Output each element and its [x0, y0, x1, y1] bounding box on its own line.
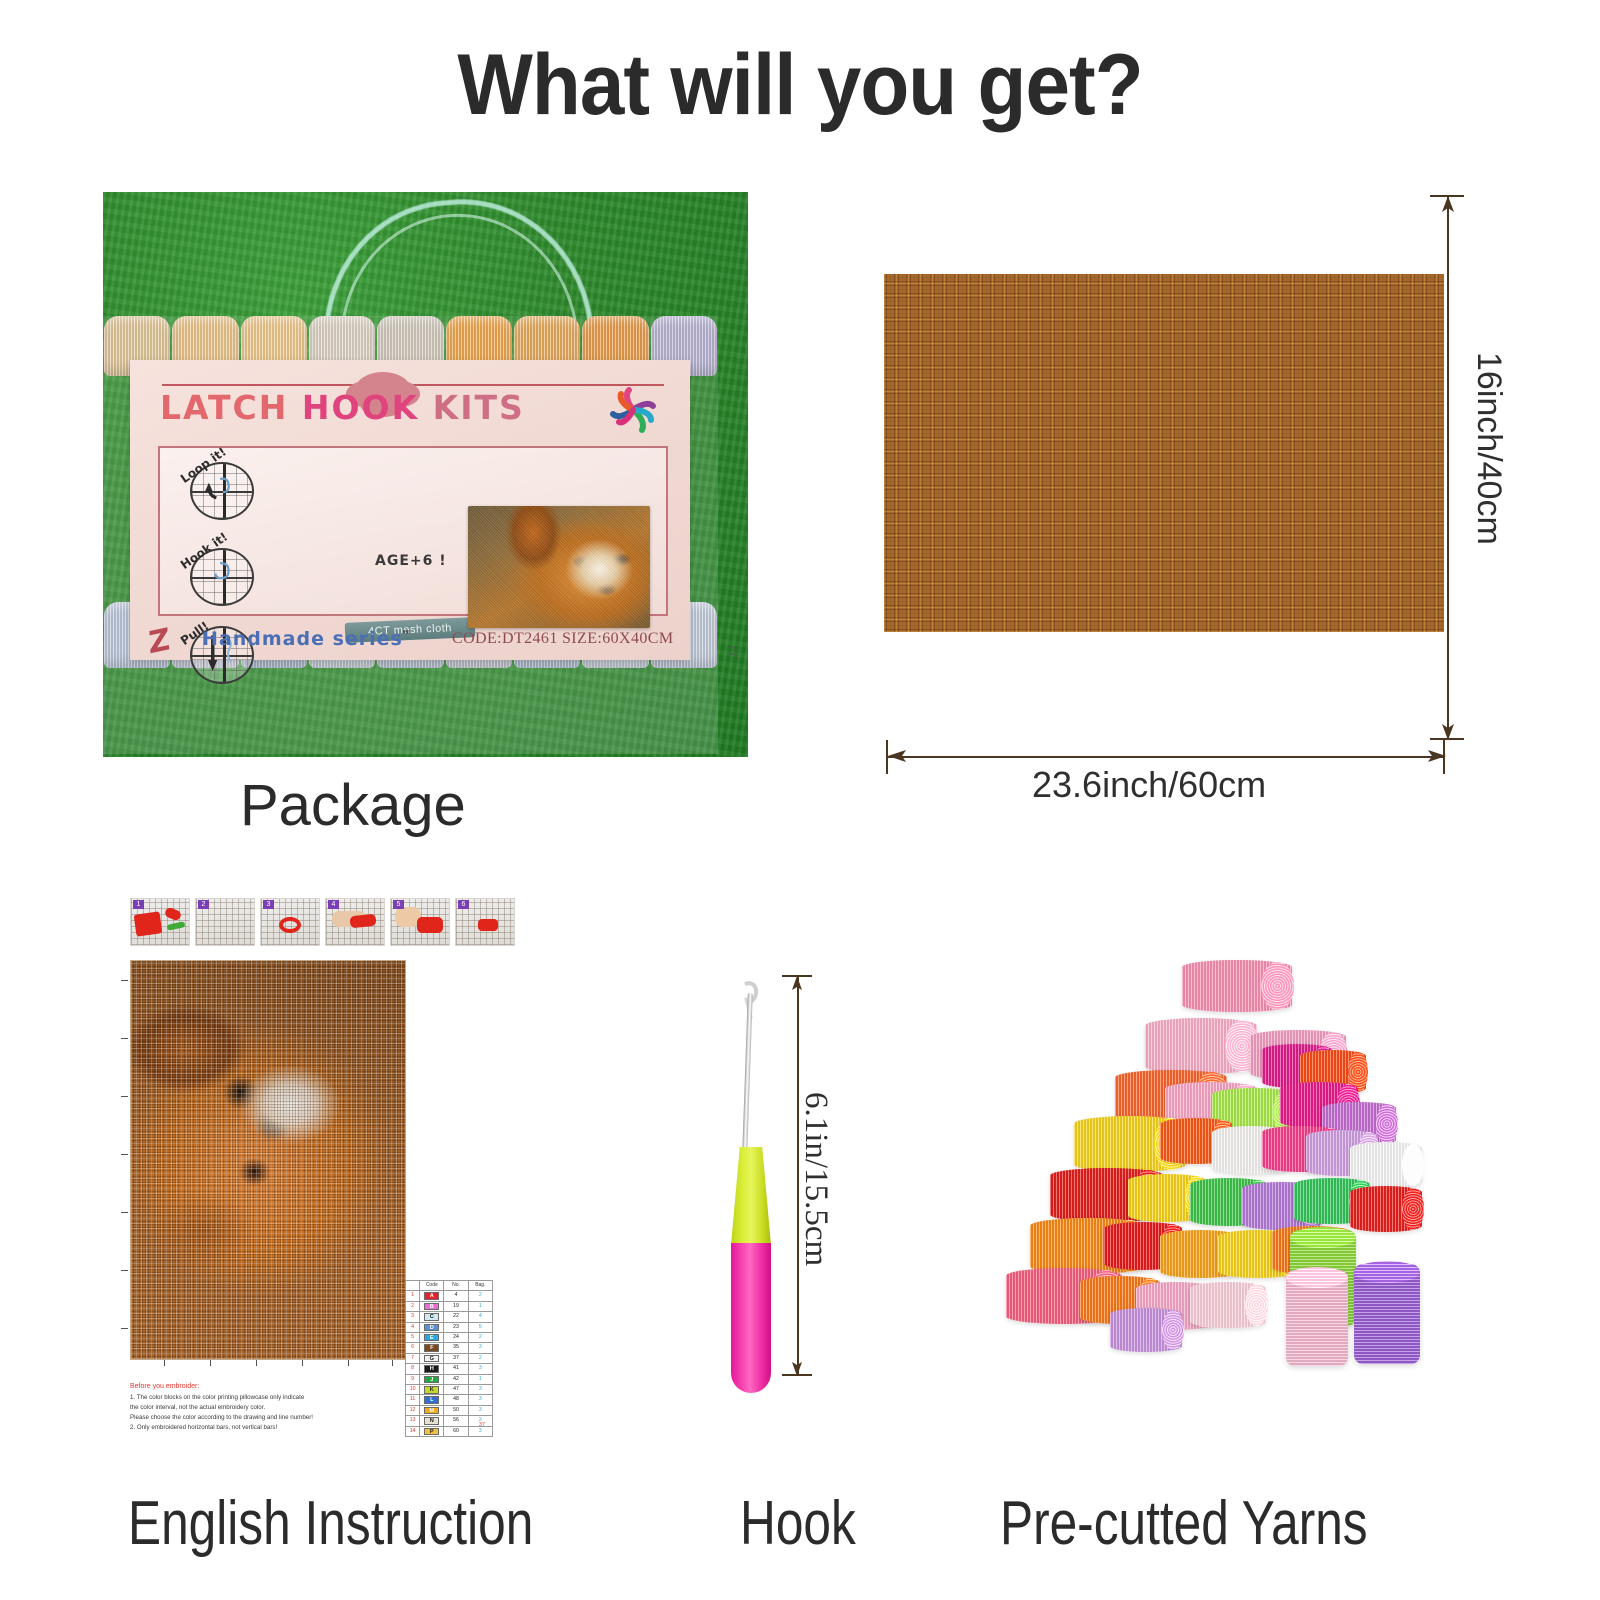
package-label-card: LATCH HOOK KITS	[130, 360, 690, 660]
yarn-bundle	[1110, 1308, 1182, 1352]
notes-line-2: the color interval, not the actual embro…	[130, 1403, 420, 1413]
english-instruction-sheet: 1 2 3 4 5	[125, 898, 515, 1478]
yarn-bundle-upright	[1286, 1270, 1348, 1366]
legend-cell-no: 37	[444, 1353, 468, 1363]
legend-cell-no: 41	[444, 1364, 468, 1374]
latch-hook-tool	[690, 955, 810, 1405]
step-thumbnail: 4	[325, 898, 385, 946]
step-thumbnail: 1	[130, 898, 190, 946]
legend-cell-bag: 3	[468, 1395, 492, 1405]
legend-cell-bag: 5	[468, 1322, 492, 1332]
package-photo: LATCH HOOK KITS	[103, 192, 748, 757]
legend-cell-code: M	[420, 1405, 444, 1415]
legend-cell-index: 5	[406, 1333, 420, 1343]
legend-cell-code: K	[420, 1385, 444, 1395]
legend-cell-bag: 1	[468, 1301, 492, 1311]
quote-mark: "	[402, 627, 409, 644]
legend-cell-code: D	[420, 1322, 444, 1332]
legend-cell-bag: 3	[468, 1405, 492, 1415]
hook-arrow-down-icon	[790, 1358, 804, 1376]
age-recommendation: AGE+6 !	[375, 553, 447, 569]
legend-cell-code: J	[420, 1374, 444, 1384]
step-number: 6	[458, 900, 469, 909]
label-instruction-box: Loop it! Hook it!	[158, 446, 668, 616]
legend-cell-code: H	[420, 1364, 444, 1374]
hook-shaft	[742, 993, 753, 1153]
legend-cell-no: 19	[444, 1301, 468, 1311]
chart-grid-overlay	[131, 961, 405, 1359]
product-code: CODE:DT2461	[452, 630, 558, 648]
legend-cell-bag: 2	[468, 1353, 492, 1363]
legend-header-bag: Bag.	[468, 1281, 492, 1291]
yarn-bundle	[1190, 1282, 1266, 1328]
notes-line-4: 2. Only embroidered horizontal bars, not…	[130, 1423, 420, 1433]
legend-cell-code: A	[420, 1291, 444, 1301]
legend-header-index	[406, 1281, 420, 1291]
legend-cell-index: 3	[406, 1312, 420, 1322]
legend-row: 5E242	[406, 1333, 493, 1343]
step-thumbnail: 6	[455, 898, 515, 946]
legend-cell-no: 35	[444, 1343, 468, 1353]
hook-arrow-up-icon	[790, 976, 804, 994]
brand-mark: Z	[147, 618, 190, 657]
label-title-word2: HOOK	[302, 388, 419, 427]
canvas-mesh-grid-dark	[884, 274, 1444, 632]
dimension-arrow-down-icon	[1440, 720, 1456, 740]
legend-cell-index: 7	[406, 1353, 420, 1363]
product-infographic: What will you get?	[0, 0, 1600, 1600]
legend-header-row: Code No. Bag.	[406, 1281, 493, 1291]
product-size: SIZE:60X40CM	[562, 630, 673, 648]
legend-cell-no: 47	[444, 1385, 468, 1395]
chart-x-ticks	[130, 1360, 406, 1370]
legend-cell-code: L	[420, 1395, 444, 1405]
chart-y-ticks	[121, 960, 131, 1360]
yarn-bundle	[1182, 960, 1292, 1012]
step-number: 4	[328, 900, 339, 909]
legend-cell-no: 23	[444, 1322, 468, 1332]
label-title-word1: LATCH	[160, 388, 288, 427]
hook-handle-lower	[731, 1243, 771, 1393]
legend-cell-index: 8	[406, 1364, 420, 1374]
yarn-bundle	[1350, 1186, 1422, 1232]
step-thumbnail-strip: 1 2 3 4 5	[130, 898, 515, 946]
legend-cell-index: 1	[406, 1291, 420, 1301]
label-footer: Z Handmade series " CODE:DT2461 SIZE:60X…	[130, 620, 690, 654]
legend-cell-bag: 1	[468, 1374, 492, 1384]
legend-row: 3C224	[406, 1312, 493, 1322]
legend-header-no: No.	[444, 1281, 468, 1291]
step-thumbnail: 2	[195, 898, 255, 946]
legend-row: 6F353	[406, 1343, 493, 1353]
legend-cell-index: 4	[406, 1322, 420, 1332]
notes-line-1: 1. The color blocks on the color printin…	[130, 1393, 420, 1403]
canvas-height-label: 16inch/40cm	[1469, 352, 1508, 545]
step-thumbnail: 3	[260, 898, 320, 946]
legend-cell-bag: 3	[468, 1343, 492, 1353]
dimension-arrow-up-icon	[1440, 196, 1456, 216]
legend-cell-no: 22	[444, 1312, 468, 1322]
legend-row: 7G372	[406, 1353, 493, 1363]
pinwheel-logo	[602, 382, 664, 438]
legend-header-code: Code	[420, 1281, 444, 1291]
step-number: 5	[393, 900, 404, 909]
legend-row: 1A42	[406, 1291, 493, 1301]
legend-cell-bag: 3	[468, 1364, 492, 1374]
legend-cell-no: 42	[444, 1374, 468, 1384]
printed-mesh-canvas	[884, 274, 1444, 632]
dimension-arrow-left-icon	[888, 748, 910, 764]
legend-cell-bag: 2	[468, 1333, 492, 1343]
legend-cell-no: 48	[444, 1395, 468, 1405]
caption-english-instruction: English Instruction	[128, 1488, 533, 1559]
instruction-dog-chart	[130, 960, 406, 1360]
package-side-number: 22	[727, 645, 743, 659]
step-number: 2	[198, 900, 209, 909]
hook-length-label: 6.1in/15.5cm	[797, 1092, 834, 1266]
legend-cell-index: 6	[406, 1343, 420, 1353]
hook-handle-upper	[731, 1147, 771, 1245]
legend-cell-no: 50	[444, 1405, 468, 1415]
legend-row: 2B191	[406, 1301, 493, 1311]
dimension-line-vertical	[1447, 196, 1449, 740]
step-number: 3	[263, 900, 274, 909]
legend-cell-code: F	[420, 1343, 444, 1353]
label-title-word3: KITS	[433, 388, 525, 427]
brand-name: Handmade series	[202, 628, 403, 650]
legend-cell-bag: 3	[468, 1385, 492, 1395]
before-you-embroider-notes: Before you embroider: 1. The color block…	[130, 1382, 420, 1433]
label-top-rule	[162, 384, 664, 386]
label-title: LATCH HOOK KITS	[160, 388, 500, 427]
notes-line-3: Please choose the color according to the…	[130, 1413, 420, 1423]
caption-package: Package	[240, 772, 466, 839]
legend-cell-code: C	[420, 1312, 444, 1322]
legend-row: 4D235	[406, 1322, 493, 1332]
caption-hook: Hook	[740, 1488, 856, 1559]
legend-cell-no: 24	[444, 1333, 468, 1343]
canvas-width-label: 23.6inch/60cm	[1032, 764, 1266, 806]
dimension-line-horizontal	[888, 756, 1444, 758]
label-dog-preview-photo	[468, 506, 650, 628]
legend-cell-index: 2	[406, 1301, 420, 1311]
legend-cell-no: 4	[444, 1291, 468, 1301]
yarn-bundle-upright	[1354, 1264, 1420, 1364]
legend-row: 8H413	[406, 1364, 493, 1374]
legend-cell-code: G	[420, 1353, 444, 1363]
legend-cell-code: E	[420, 1333, 444, 1343]
step-number: 1	[133, 900, 144, 909]
caption-pre-cutted-yarns: Pre-cutted Yarns	[1000, 1488, 1368, 1559]
notes-title: Before you embroider:	[130, 1382, 420, 1392]
legend-cell-code: B	[420, 1301, 444, 1311]
step-thumbnail: 5	[390, 898, 450, 946]
legend-cell-bag: 4	[468, 1312, 492, 1322]
yarn-bundle	[1145, 1018, 1257, 1074]
legend-cell-bag: 2	[468, 1291, 492, 1301]
pre-cutted-yarns-photo	[950, 930, 1450, 1390]
dimension-arrow-right-icon	[1424, 748, 1446, 764]
page-title: What will you get?	[56, 36, 1544, 135]
